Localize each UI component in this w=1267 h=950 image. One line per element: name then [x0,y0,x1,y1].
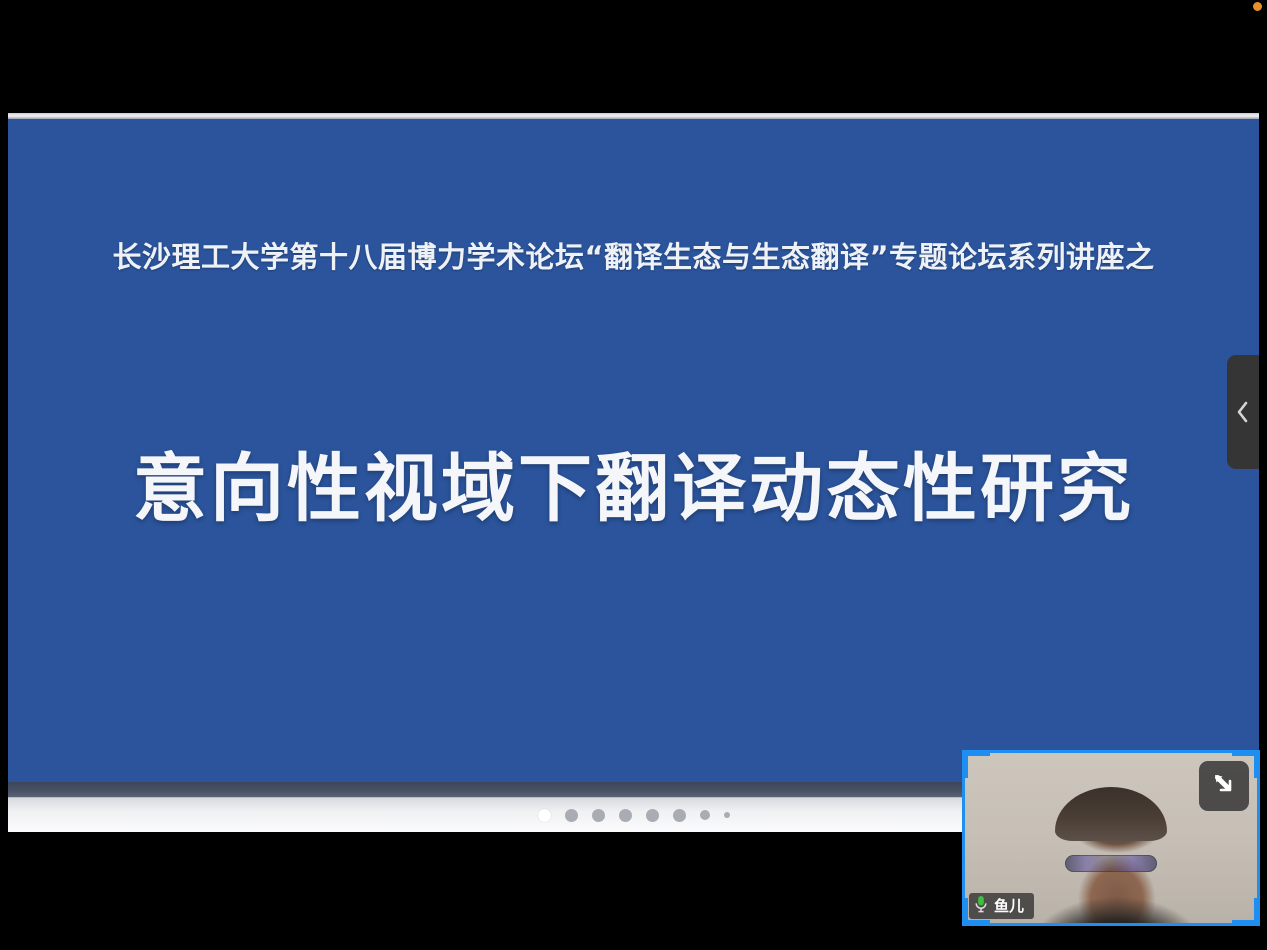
page-dot-8[interactable] [724,812,730,818]
presentation-slide: 长沙理工大学第十八届博力学术论坛“翻译生态与生态翻译”专题论坛系列讲座之 意向性… [8,119,1259,782]
participant-name: 鱼儿 [994,899,1024,914]
slide-title: 意向性视域下翻译动态性研究 [8,429,1259,536]
resize-handle-top-left[interactable] [962,750,990,778]
side-panel-toggle[interactable] [1227,355,1259,469]
page-dot-1[interactable] [538,809,551,822]
page-dot-3[interactable] [592,809,605,822]
microphone-icon [974,895,988,918]
resize-handle-bottom-right[interactable] [1232,898,1260,926]
meeting-screen: 长沙理工大学第十八届博力学术论坛“翻译生态与生态翻译”专题论坛系列讲座之 意向性… [0,0,1267,950]
participant-video-tile[interactable]: 鱼儿 [962,750,1260,926]
page-dot-7[interactable] [700,810,710,820]
chevron-left-icon [1236,400,1250,424]
restore-down-icon [1209,769,1239,804]
restore-down-button[interactable] [1199,761,1249,811]
page-dot-6[interactable] [673,809,686,822]
page-dot-5[interactable] [646,809,659,822]
recording-status-dot [1253,2,1262,11]
page-dot-4[interactable] [619,809,632,822]
page-dot-2[interactable] [565,809,578,822]
shared-screen-area: 长沙理工大学第十八届博力学术论坛“翻译生态与生态翻译”专题论坛系列讲座之 意向性… [8,113,1259,831]
participant-name-badge: 鱼儿 [969,893,1034,919]
slide-subtitle: 长沙理工大学第十八届博力学术论坛“翻译生态与生态翻译”专题论坛系列讲座之 [8,234,1259,276]
